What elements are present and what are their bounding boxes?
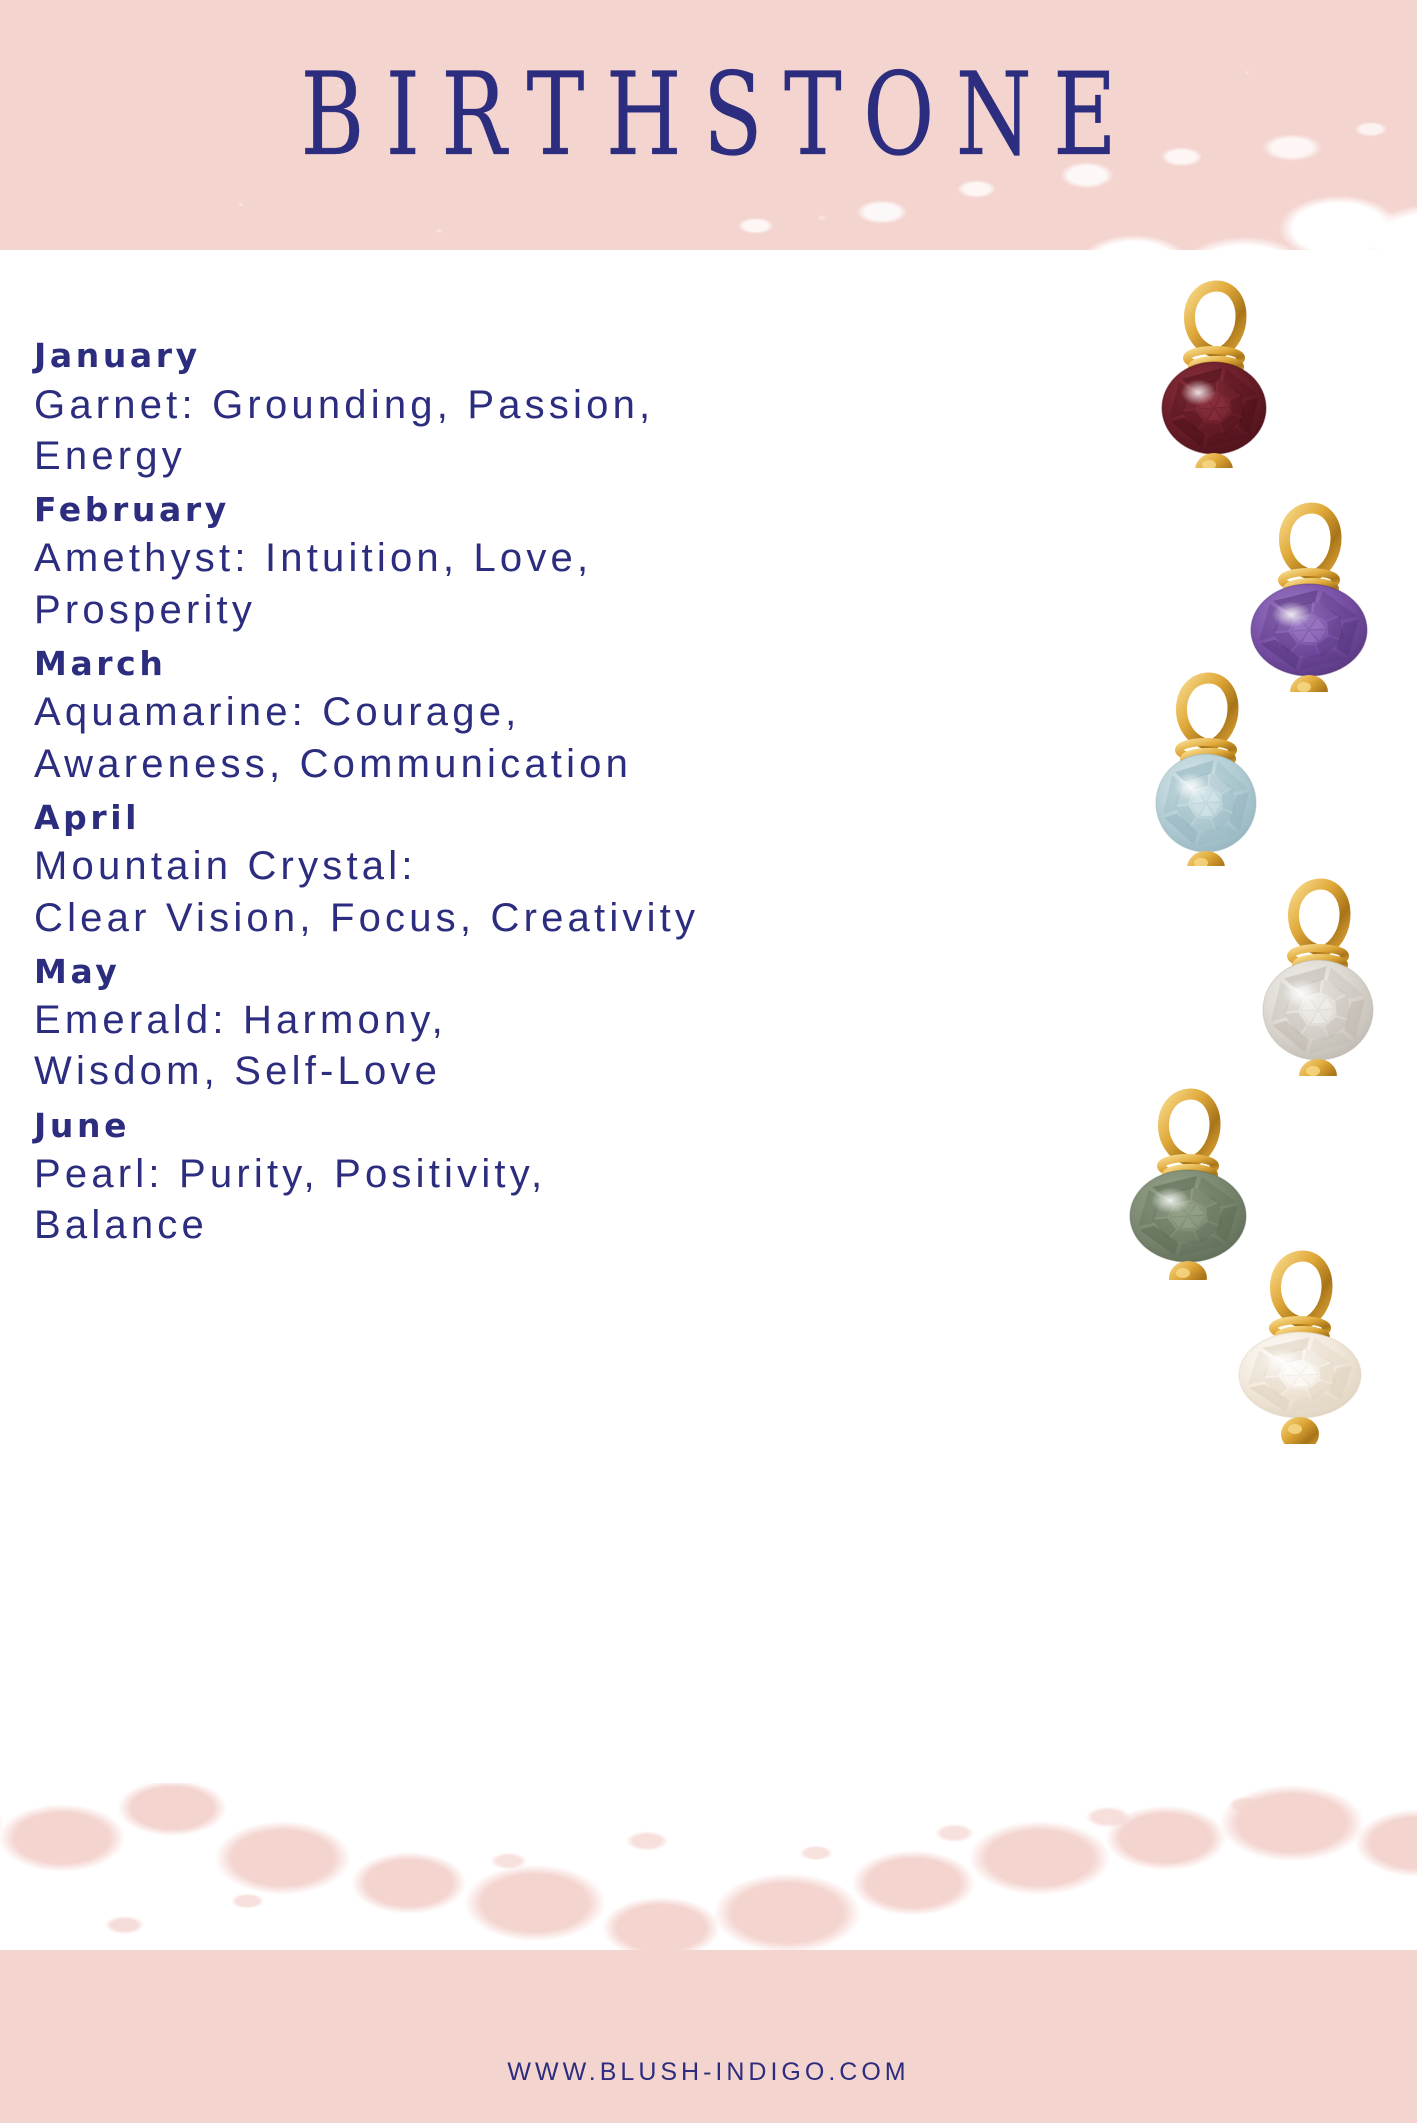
stone-description-june: Pearl: Purity, Positivity, Balance [34, 1149, 994, 1251]
paint-edge-bottom-wisps [0, 1773, 1417, 1973]
month-label-may: May [34, 950, 994, 994]
month-label-march: March [34, 642, 994, 686]
stone-description-april: Mountain Crystal: Clear Vision, Focus, C… [34, 841, 994, 943]
stone-description-may: Emerald: Harmony, Wisdom, Self-Love [34, 995, 994, 1097]
month-label-february: February [34, 488, 994, 532]
month-label-january: January [34, 334, 994, 378]
garnet-charm [1148, 278, 1280, 468]
charm-graphic [1238, 500, 1380, 692]
month-label-april: April [34, 796, 994, 840]
list-item: April Mountain Crystal: Clear Vision, Fo… [34, 796, 994, 944]
charm-graphic [1140, 670, 1272, 866]
list-item: March Aquamarine: Courage, Awareness, Co… [34, 642, 994, 790]
month-label-june: June [34, 1104, 994, 1148]
mountain-crystal-charm [1248, 876, 1388, 1076]
birthstone-list: January Garnet: Grounding, Passion, Ener… [34, 334, 994, 1258]
stone-description-january: Garnet: Grounding, Passion, Energy [34, 380, 994, 482]
list-item: February Amethyst: Intuition, Love, Pros… [34, 488, 994, 636]
list-item: June Pearl: Purity, Positivity, Balance [34, 1104, 994, 1252]
list-item: January Garnet: Grounding, Passion, Ener… [34, 334, 994, 482]
stone-description-march: Aquamarine: Courage, Awareness, Communic… [34, 687, 994, 789]
footer-url: WWW.BLUSH-INDIGO.COM [0, 2058, 1417, 2087]
list-item: May Emerald: Harmony, Wisdom, Self-Love [34, 950, 994, 1098]
amethyst-charm [1238, 500, 1380, 692]
stone-description-february: Amethyst: Intuition, Love, Prosperity [34, 533, 994, 635]
aquamarine-charm [1140, 670, 1272, 866]
pearl-charm [1230, 1248, 1370, 1444]
charm-graphic [1148, 278, 1280, 468]
charm-graphic [1230, 1248, 1370, 1444]
birthstone-poster: BIRTHSTONE January Garnet: Grounding, Pa… [0, 0, 1417, 2123]
page-title: BIRTHSTONE [128, 58, 1290, 172]
charm-graphic [1248, 876, 1388, 1076]
